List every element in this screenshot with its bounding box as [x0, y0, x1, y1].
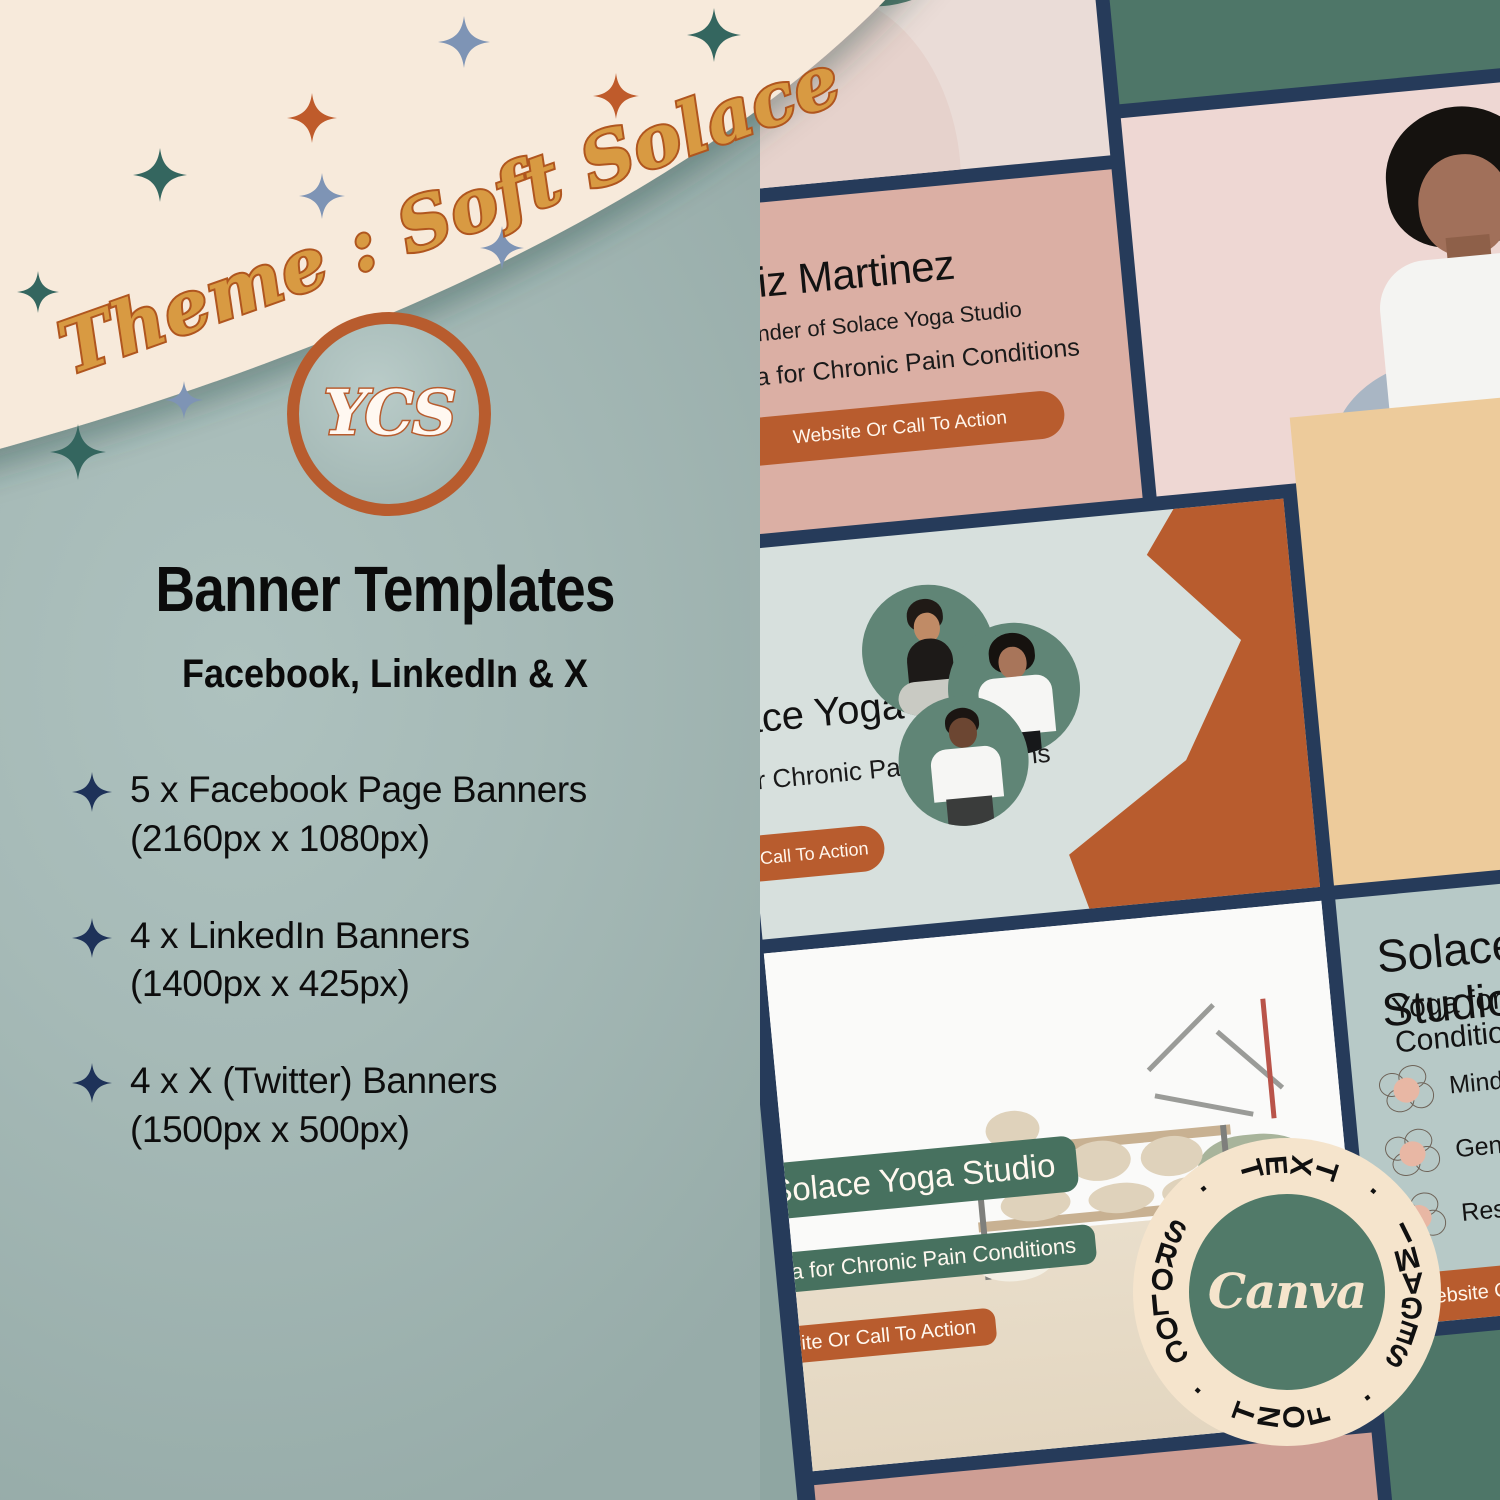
sparkle-star-icon	[72, 918, 112, 958]
canva-ring-char: ·	[1187, 1175, 1220, 1204]
feature-bullet-line1: 5 x Facebook Page Banners	[130, 769, 587, 810]
feature-bullet-line2: (2160px x 1080px)	[130, 815, 587, 864]
brand-logo-circle: YCS	[287, 312, 491, 516]
sparkle-star-icon	[287, 93, 337, 143]
sparkle-star-icon	[50, 424, 106, 480]
poster-canvas: SOLACE YOGA You Liz Martinez Founder of …	[0, 0, 1500, 1500]
feature-bullet-text: 4 x X (Twitter) Banners(1500px x 500px)	[130, 1057, 497, 1155]
page-subtitle: Facebook, LinkedIn & X	[39, 652, 732, 697]
feature-bullet-line2: (1400px x 425px)	[130, 960, 470, 1009]
sparkle-star-icon	[72, 1063, 130, 1108]
feature-bullet-line1: 4 x LinkedIn Banners	[130, 915, 470, 956]
sparkle-star-icon	[165, 381, 203, 419]
sparkle-star-icon	[17, 271, 59, 313]
feature-bullet: 4 x LinkedIn Banners(1400px x 425px)	[72, 912, 772, 1010]
feature-bullet-text: 5 x Facebook Page Banners(2160px x 1080p…	[130, 766, 587, 864]
feature-bullet-line1: 4 x X (Twitter) Banners	[130, 1060, 497, 1101]
feature-bullet: 5 x Facebook Page Banners(2160px x 1080p…	[72, 766, 772, 864]
canva-ring-char: T	[1226, 1398, 1264, 1427]
canva-ring-char: T	[1306, 1156, 1344, 1184]
sparkle-star-icon	[72, 918, 130, 963]
canva-ring-char: ·	[1183, 1375, 1215, 1405]
canva-ring-char: ·	[1356, 1176, 1388, 1206]
canva-logo-text: Canva	[1208, 1264, 1366, 1320]
sparkle-star-icon	[72, 772, 112, 812]
sparkle-star-icon	[687, 8, 741, 62]
feature-bullet-text: 4 x LinkedIn Banners(1400px x 425px)	[130, 912, 470, 1010]
feature-bullet: 4 x X (Twitter) Banners(1500px x 500px)	[72, 1057, 772, 1155]
feature-bullet-list: 5 x Facebook Page Banners(2160px x 1080p…	[72, 766, 772, 1203]
brand-monogram: YCS	[323, 376, 454, 449]
canva-badge: COLORS · TEXT · IMAGES · FONT · Canva	[1133, 1138, 1441, 1446]
sparkle-star-icon	[72, 1063, 112, 1103]
sparkle-star-icon	[72, 772, 130, 817]
feature-bullet-line2: (1500px x 500px)	[130, 1106, 497, 1155]
sparkle-star-icon	[438, 16, 490, 68]
canva-ring-char: ·	[1351, 1382, 1384, 1410]
page-title: Banner Templates	[54, 552, 716, 626]
canva-badge-inner: Canva	[1189, 1194, 1385, 1390]
sparkle-star-icon	[133, 148, 187, 202]
